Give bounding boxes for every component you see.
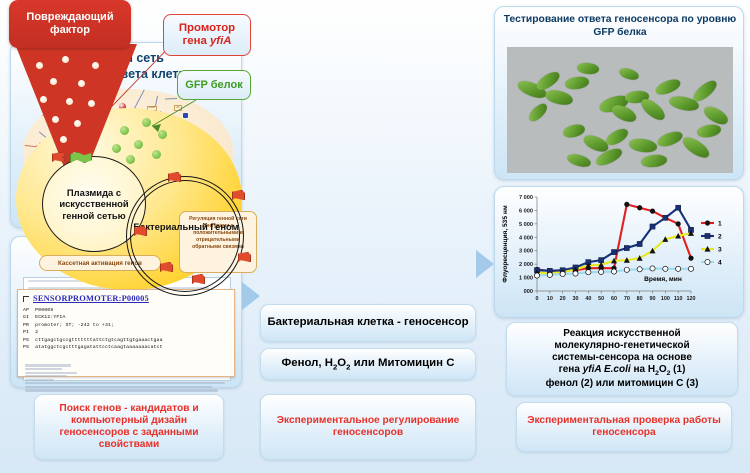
y-tick-label: 6 000 [519, 208, 533, 214]
gfp-molecule [142, 118, 151, 127]
x-tick-label: 30 [573, 296, 579, 302]
damage-particle [74, 120, 81, 127]
x-tick-label: 40 [585, 296, 591, 302]
y-tick-label: 1 000 [519, 276, 533, 282]
data-point [663, 215, 668, 220]
caption-right: Экспериментальная проверка работы геносе… [516, 402, 732, 452]
data-point [624, 245, 629, 250]
data-point [599, 269, 604, 274]
damage-particle [66, 98, 73, 105]
data-point [624, 202, 629, 207]
caption-center: Экспериментальное регулирование геносенс… [260, 394, 476, 460]
record-link[interactable]: SENSORPROMOTER:P00005 [33, 294, 149, 303]
x-tick-label: 20 [560, 296, 566, 302]
bacterial-genome-circle: Бактериальный Геном [126, 176, 244, 296]
record-fields: AP P00005GI ECK12:YFIAPR promoter; ST; -… [23, 307, 229, 352]
data-point [611, 249, 616, 254]
legend-marker-4 [705, 259, 710, 264]
gfp-protein-label: GFP белок [177, 70, 251, 100]
data-point [650, 209, 655, 214]
legend-label-3: 3 [718, 247, 722, 254]
data-point [547, 272, 552, 277]
data-point [637, 205, 642, 210]
data-point [560, 271, 565, 276]
damage-particle [60, 136, 67, 143]
data-point [676, 205, 681, 210]
x-tick-label: 70 [624, 296, 630, 302]
data-point [624, 267, 629, 272]
data-point [637, 241, 642, 246]
damage-particle [62, 56, 69, 63]
x-tick-label: 0 [536, 296, 539, 302]
y-tick-label: 3 000 [519, 249, 533, 255]
x-tick-label: 110 [674, 296, 683, 302]
chart-caption: Реакция искусственной молекулярно-генети… [506, 322, 738, 396]
data-point [611, 269, 616, 274]
chemicals-caption: Фенол, H2O2 или Митомицин С [260, 348, 476, 380]
promoter-icon [232, 190, 245, 200]
x-tick-label: 90 [650, 296, 656, 302]
data-point [534, 273, 539, 278]
y-axis-title: Флуоресценция, 535 нм [502, 205, 509, 283]
data-point [663, 266, 668, 271]
legend-marker-2 [705, 233, 710, 238]
promoter-icon [192, 274, 205, 284]
promoter-icon [52, 152, 65, 162]
fluorescence-chart-panel: 0001 0002 0003 0004 0005 0006 0007 00001… [494, 186, 744, 318]
gfp-molecule [134, 140, 143, 149]
record-checkbox[interactable] [23, 296, 29, 302]
damage-particle [36, 62, 43, 69]
damage-particle [78, 80, 85, 87]
damage-particle [40, 96, 47, 103]
gfp-molecule [126, 155, 135, 164]
gfp-molecule [112, 144, 121, 153]
network-edge [165, 98, 177, 99]
y-tick-label: 5 000 [519, 222, 533, 228]
fluorescence-microscopy-image [507, 47, 733, 173]
data-point [688, 266, 693, 271]
legend-marker-1 [705, 220, 710, 225]
flow-arrow-icon [476, 250, 494, 278]
flow-arrow-icon [242, 282, 260, 310]
data-point [650, 266, 655, 271]
gfp-molecule [152, 150, 161, 159]
microscopy-panel: Тестирование ответа геносенсора по уровн… [494, 6, 744, 180]
y-tick-label: 2 000 [519, 262, 533, 268]
x-tick-label: 10 [547, 296, 553, 302]
x-tick-label: 80 [637, 296, 643, 302]
legend-label-4: 4 [718, 260, 722, 267]
x-tick-label: 50 [598, 296, 604, 302]
promoter-icon [134, 226, 147, 236]
promoter-icon [238, 252, 251, 262]
y-tick-label: 000 [524, 289, 533, 295]
data-point [650, 224, 655, 229]
x-tick-label: 120 [687, 296, 696, 302]
data-point [637, 267, 642, 272]
fluorescence-line-chart: 0001 0002 0003 0004 0005 0006 0007 00001… [495, 187, 745, 319]
network-gene-node: nth [174, 105, 181, 110]
promoter-gene-label: Промотор гена yfiA [163, 14, 251, 56]
y-tick-label: 7 000 [519, 195, 533, 201]
damage-particle [92, 62, 99, 69]
promoter-icon [168, 172, 181, 182]
data-point [676, 266, 681, 271]
damage-particle [52, 116, 59, 123]
damage-particle [50, 78, 57, 85]
damaging-factor-label: Повреждающий фактор [9, 0, 131, 48]
data-point [586, 270, 591, 275]
gfp-molecule [158, 130, 167, 139]
promoter-icon [160, 262, 173, 272]
y-tick-label: 4 000 [519, 235, 533, 241]
cell-caption: Бактериальная клетка - геносенсор [260, 304, 476, 342]
gfp-molecule [120, 126, 129, 135]
microscopy-title: Тестирование ответа геносенсора по уровн… [495, 14, 744, 40]
damage-particle [88, 100, 95, 107]
caption-left: Поиск генов - кандидатов и компьютерный … [34, 394, 224, 460]
network-protein-node [183, 113, 188, 118]
data-point [688, 256, 693, 261]
data-point [573, 271, 578, 276]
legend-label-2: 2 [718, 234, 722, 241]
data-point [676, 221, 681, 226]
legend-label-1: 1 [718, 221, 722, 228]
x-tick-label: 60 [611, 296, 617, 302]
x-axis-title: Время, мин [644, 276, 682, 283]
x-tick-label: 100 [661, 296, 670, 302]
database-footer-lines [23, 363, 231, 393]
